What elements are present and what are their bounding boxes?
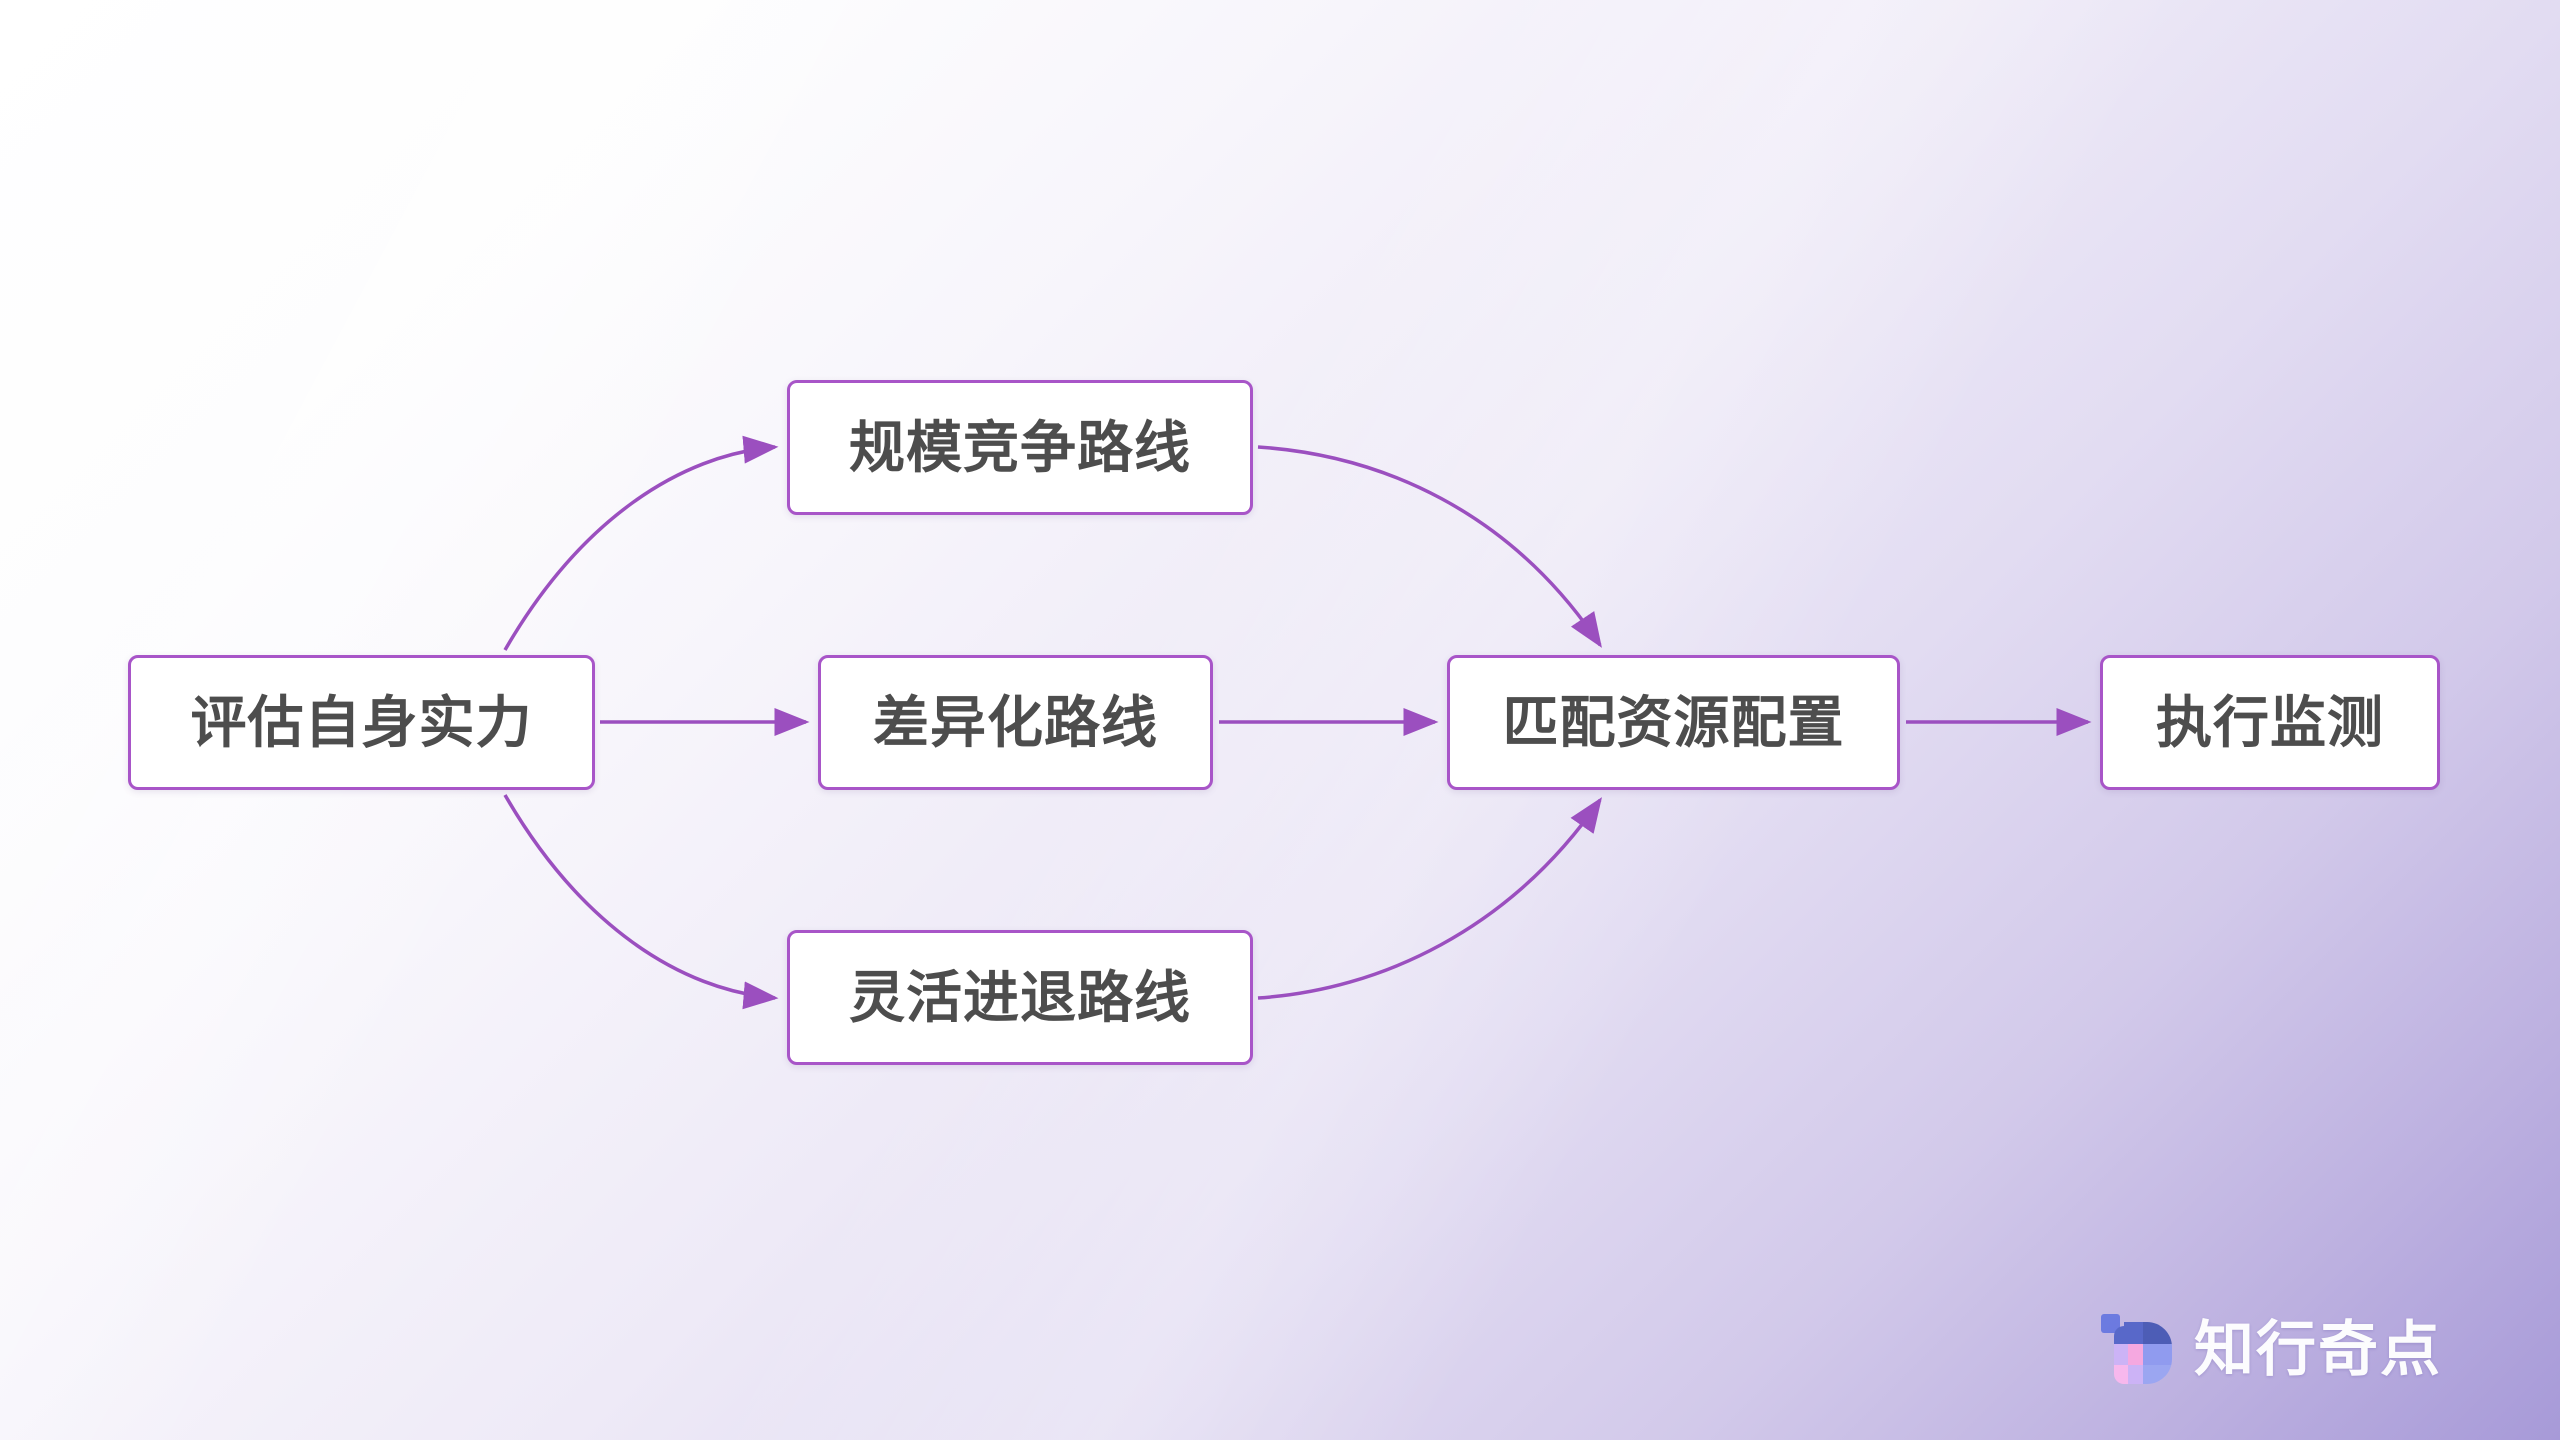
watermark: 知行奇点 [2098, 1312, 2442, 1388]
node-monitor[interactable]: 执行监测 [2100, 655, 2440, 790]
edge-assess-to-flexible [505, 795, 775, 998]
zhixing-qidian-logo-icon [2098, 1312, 2174, 1388]
edge-flexible-to-resource [1258, 800, 1600, 998]
watermark-text: 知行奇点 [2194, 1320, 2442, 1380]
node-scale-label: 规模竞争路线 [849, 420, 1191, 476]
node-flexible[interactable]: 灵活进退路线 [787, 930, 1253, 1065]
node-resource[interactable]: 匹配资源配置 [1447, 655, 1900, 790]
edge-scale-to-resource [1258, 447, 1600, 645]
node-assess[interactable]: 评估自身实力 [128, 655, 595, 790]
node-assess-label: 评估自身实力 [191, 695, 533, 751]
node-diff-label: 差异化路线 [873, 695, 1158, 751]
edge-assess-to-scale [505, 447, 775, 650]
node-diff[interactable]: 差异化路线 [818, 655, 1213, 790]
node-scale[interactable]: 规模竞争路线 [787, 380, 1253, 515]
node-resource-label: 匹配资源配置 [1503, 695, 1845, 751]
node-monitor-label: 执行监测 [2156, 695, 2384, 751]
node-flexible-label: 灵活进退路线 [849, 970, 1191, 1026]
diagram-canvas: 评估自身实力 规模竞争路线 差异化路线 灵活进退路线 匹配资源配置 执行监测 [0, 0, 2560, 1440]
